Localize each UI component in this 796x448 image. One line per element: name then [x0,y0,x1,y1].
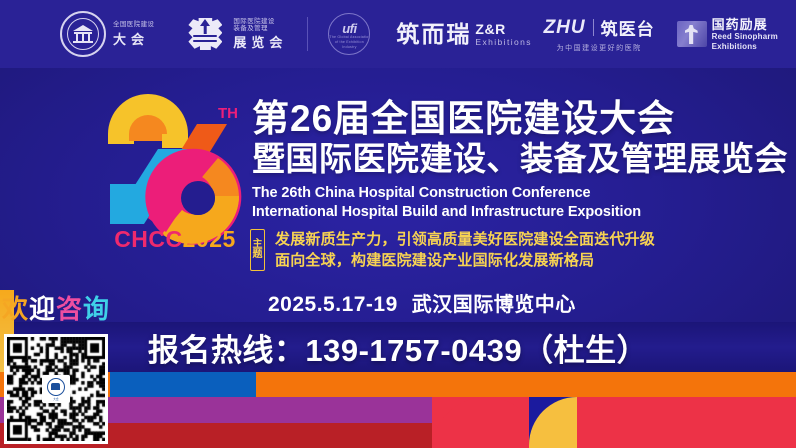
page-title-en: The 26th China Hospital Construction Con… [252,184,641,221]
seal-big-label: 大会 [113,33,154,46]
zhu-divider [593,19,594,36]
reed-en-line2: Exhibitions [712,43,778,51]
qr-code-icon[interactable]: 大会 [4,334,108,444]
expo-small-label-2: 装备及管理 [233,26,287,33]
welcome-consult-text: 欢迎咨询 [2,296,110,322]
chcc-year: 2025 [183,226,236,252]
page-title-cn-line2: 暨国际医院建设、装备及管理展览会 [252,142,788,175]
ufi-mark: ufi [342,21,356,36]
chcc-letters: CHCC [114,226,182,252]
zhu-mark: ZHU [544,17,586,39]
zr-en-sub: Exhibitions [475,38,532,47]
qr-center-label: 大会 [53,397,58,401]
zr-cn-name: 筑而瑞 [396,23,471,46]
band-red-far-right [577,397,796,448]
logo-exposition: 国际医院建设 装备及管理 展览会 [154,13,287,55]
event-date-venue: 2025.5.17-19 武汉国际博览中心 [268,288,576,317]
page-title-en-line1: The 26th China Hospital Construction Con… [252,184,641,203]
ufi-roundel-icon: ufi The Global Association of the Exhibi… [328,13,370,55]
event-venue: 武汉国际博览中心 [412,288,576,317]
ufi-line-3: Industry [329,45,369,49]
page-title-en-line2: International Hospital Build and Infrast… [252,203,641,222]
logo-divider [307,17,308,51]
svg-text:TH: TH [218,105,238,122]
logo-national-conference: 全国医院建设 大会 [60,11,154,57]
reed-en-line1: Reed Sinopharm [712,33,778,41]
zr-en-main: Z&R [475,22,532,36]
snowflake-expo-icon [184,13,226,55]
welcome-char-4: 询 [83,294,110,324]
theme-line-2: 面向全球，构建医院建设产业国际化发展新格局 [275,250,655,271]
expo-big-label: 展览会 [233,36,287,49]
chcc-wordmark: CHCC2025 [96,228,254,251]
event-date: 2025.5.17-19 [268,293,398,317]
reed-sinopharm-icon [677,21,707,47]
qr-center-logo: 大会 [42,375,70,403]
top-logo-bar: 全国医院建设 大会 国际医院建设 装备及管理 展览会 ufi The Glob [0,0,796,68]
ufi-line-1: The Global Association [329,35,369,39]
seal-small-label: 全国医院建设 [113,22,154,29]
theme-badge-char-2: 题 [253,250,263,261]
ufi-line-2: of the Exhibition [329,40,369,44]
decorative-color-bands [0,372,796,448]
welcome-char-1: 欢 [2,294,29,324]
page-title-cn-line1: 第26届全国医院建设大会 [252,100,675,137]
reed-cn-name: 国药励展 [712,18,778,31]
welcome-char-2: 迎 [29,294,56,324]
classical-building-seal-icon [60,11,106,57]
theme-line-1: 发展新质生产力，引领高质量美好医院建设全面迭代升级 [275,229,655,250]
logo-reed-sinopharm: 国药励展 Reed Sinopharm Exhibitions [677,18,778,51]
hotline-text: 报名热线：139-1757-0439（杜生） [0,322,796,372]
zhu-tagline: 为中国建设更好的医院 [544,43,655,53]
logo-zhuyitai: ZHU 筑医台 为中国建设更好的医院 [544,15,655,53]
theme-badge: 主 题 [250,229,265,271]
logo-zr-exhibitions: 筑而瑞 Z&R Exhibitions [396,22,532,47]
zhu-cn-name: 筑医台 [601,15,655,40]
welcome-char-3: 咨 [56,294,83,324]
band-blue [110,372,256,397]
theme-block: 主 题 发展新质生产力，引领高质量美好医院建设全面迭代升级 面向全球，构建医院建… [250,229,655,272]
poster-root: 全国医院建设 大会 国际医院建设 装备及管理 展览会 ufi The Glob [0,0,796,448]
